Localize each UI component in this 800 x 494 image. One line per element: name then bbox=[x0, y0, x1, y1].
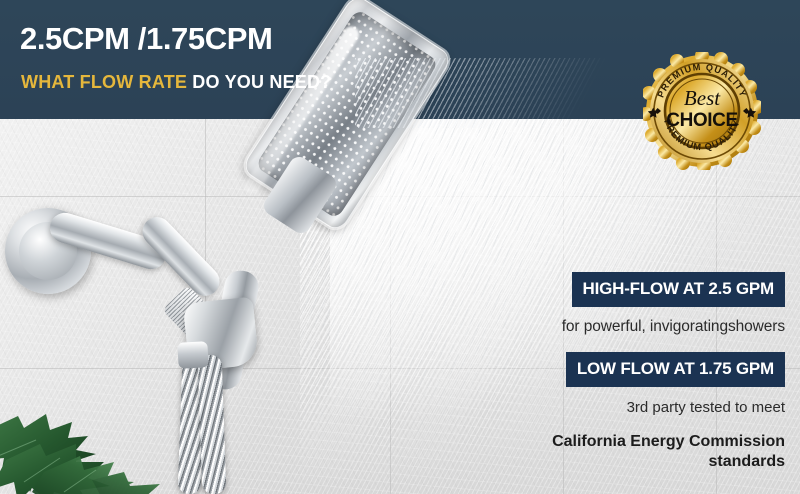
badge-script-word: Best bbox=[684, 86, 721, 110]
best-choice-badge-icon: PREMIUM QUALITY PREMIUM QUALITY Best CHO… bbox=[643, 52, 761, 170]
subtitle-rest: DO YOU NEED? bbox=[187, 72, 331, 92]
flexible-chrome-hose bbox=[198, 355, 227, 494]
cec-standard-line1: California Energy Commission bbox=[485, 432, 785, 452]
promo-banner: 2.5CPM /1.75CPM WHAT FLOW RATE DO YOU NE… bbox=[0, 0, 800, 494]
feature-list: HIGH-FLOW AT 2.5 GPM for powerful, invig… bbox=[485, 272, 785, 473]
high-flow-pill: HIGH-FLOW AT 2.5 GPM bbox=[572, 272, 786, 307]
cec-standard-line2: standards bbox=[485, 452, 785, 472]
handheld-shower-head bbox=[268, 0, 568, 244]
subtitle-highlight: WHAT FLOW RATE bbox=[21, 72, 187, 92]
low-flow-note: 3rd party tested to meet bbox=[485, 399, 785, 416]
page-title: 2.5CPM /1.75CPM bbox=[20, 21, 272, 57]
low-flow-feature: LOW FLOW AT 1.75 GPM 3rd party tested to… bbox=[485, 352, 785, 473]
badge-main-word: CHOICE bbox=[666, 110, 738, 131]
page-subtitle: WHAT FLOW RATE DO YOU NEED? bbox=[21, 72, 331, 93]
green-foliage-plant bbox=[0, 352, 194, 494]
high-flow-feature: HIGH-FLOW AT 2.5 GPM for powerful, invig… bbox=[485, 272, 785, 336]
low-flow-pill: LOW FLOW AT 1.75 GPM bbox=[566, 352, 785, 387]
high-flow-note: for powerful, invigoratingshowers bbox=[485, 318, 785, 336]
